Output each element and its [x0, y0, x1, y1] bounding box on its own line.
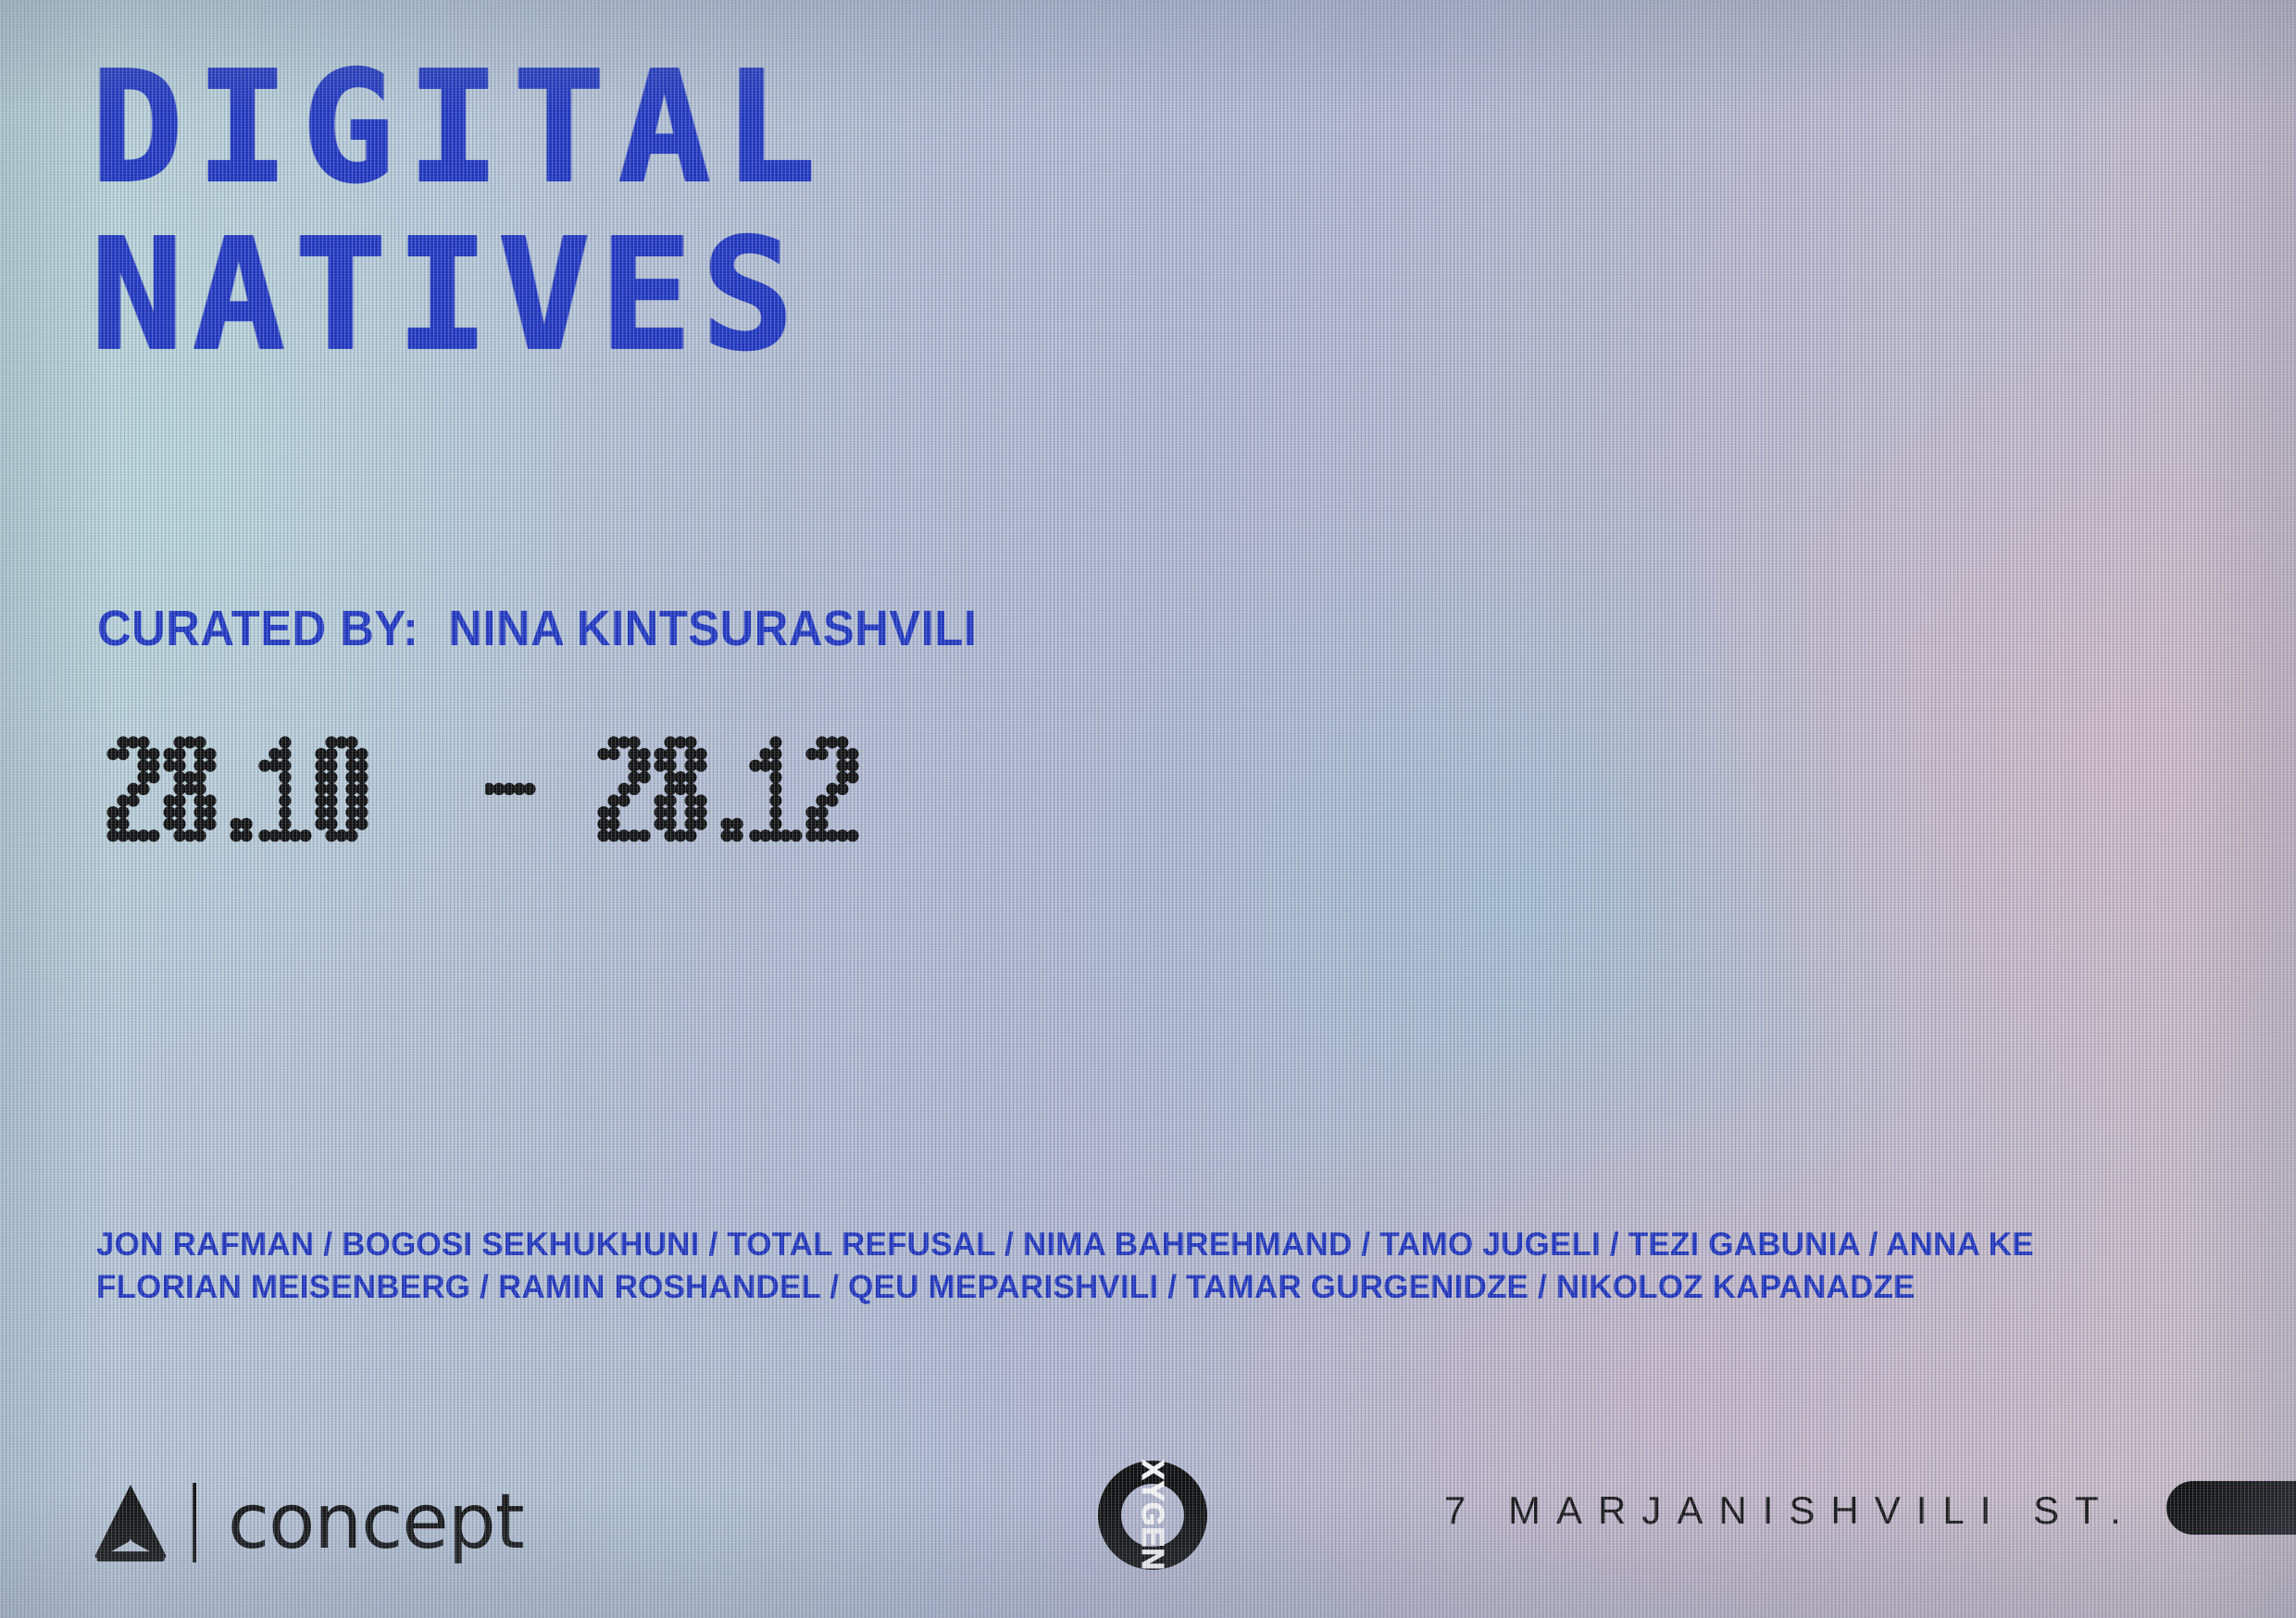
concept-logo: concept [93, 1472, 524, 1574]
exhibition-poster: DIGITAL NATIVES CURATED BY:NINA KINTSURA… [0, 0, 2296, 1618]
logo-divider [193, 1483, 196, 1562]
artist-list: JON RAFMAN / BOGOSI SEKHUKHUNI / TOTAL R… [96, 1224, 2034, 1308]
poster-title: DIGITAL NATIVES [91, 54, 830, 371]
oxygen-logo: XYGEN [1098, 1461, 1207, 1570]
oxygen-wordmark: XYGEN [1135, 1460, 1170, 1572]
title-line-natives: NATIVES [91, 221, 830, 372]
concept-triangle-icon [93, 1483, 168, 1562]
venue-address: 7 MARJANISHVILI ST. [1444, 1488, 2137, 1533]
poster-footer: concept XYGEN 7 MARJANISHVILI ST. [0, 1453, 2296, 1618]
curator-label: CURATED BY: [97, 601, 418, 656]
date-start [104, 731, 437, 865]
exhibition-dates [104, 731, 928, 865]
title-line-digital: DIGITAL [91, 54, 830, 205]
concept-wordmark: concept [228, 1485, 524, 1561]
date-end [594, 731, 928, 865]
curator-name: NINA KINTSURASHVILI [448, 601, 977, 656]
footer-pill-shape [2166, 1481, 2296, 1535]
poster-content: DIGITAL NATIVES CURATED BY:NINA KINTSURA… [0, 0, 2296, 1618]
date-separator [485, 731, 546, 865]
artist-list-line-1: JON RAFMAN / BOGOSI SEKHUKHUNI / TOTAL R… [96, 1224, 2034, 1266]
artist-list-line-2: FLORIAN MEISENBERG / RAMIN ROSHANDEL / Q… [96, 1266, 2034, 1309]
curator-credit: CURATED BY:NINA KINTSURASHVILI [97, 600, 977, 657]
